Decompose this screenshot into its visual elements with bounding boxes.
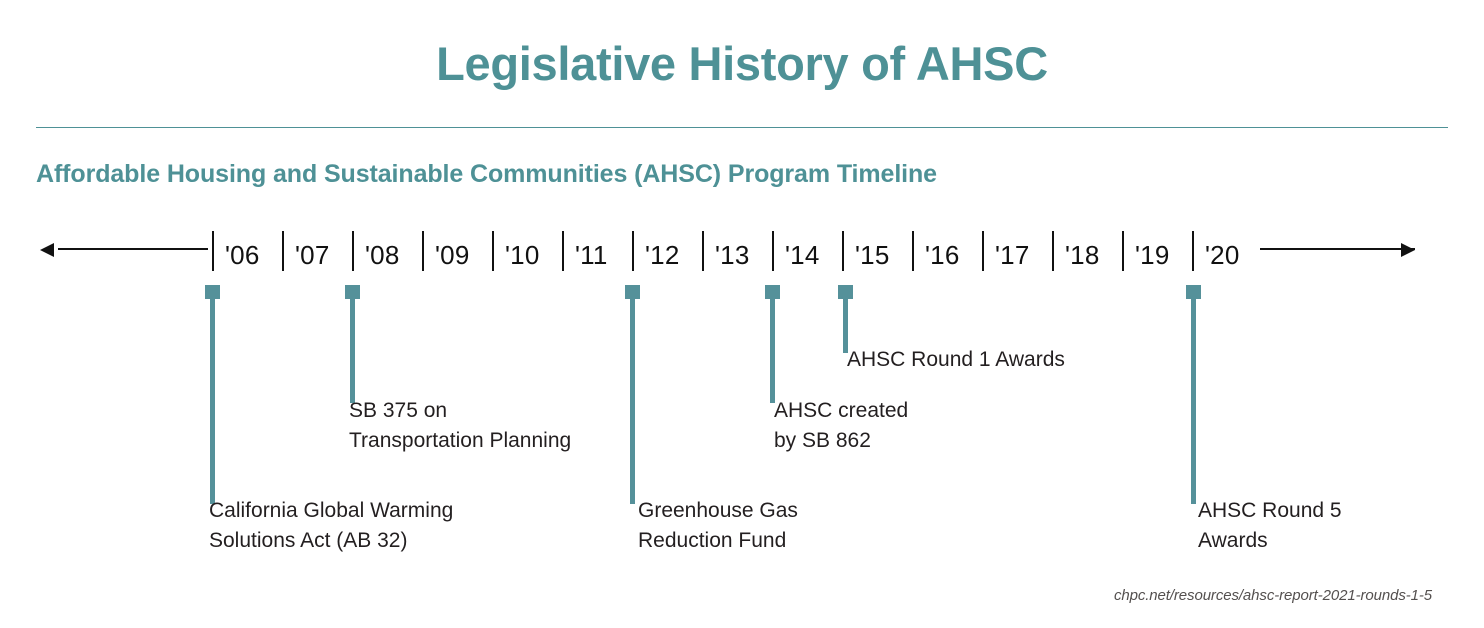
axis-tick — [912, 231, 914, 271]
arrow-right-icon — [1401, 243, 1415, 257]
year-label-19: '19 — [1135, 240, 1169, 271]
subtitle: Affordable Housing and Sustainable Commu… — [36, 160, 937, 189]
marker-cap-icon — [205, 285, 220, 299]
axis-tick — [422, 231, 424, 271]
marker-cap-icon — [765, 285, 780, 299]
year-label-14: '14 — [785, 240, 819, 271]
year-label-20: '20 — [1205, 240, 1239, 271]
axis-tick — [282, 231, 284, 271]
event-label-california-global-warming: California Global Warming Solutions Act … — [209, 496, 453, 556]
axis-tick — [1122, 231, 1124, 271]
year-label-11: '11 — [575, 240, 608, 271]
year-label-13: '13 — [715, 240, 749, 271]
event-marker-14[interactable] — [765, 285, 780, 404]
axis-tick — [352, 231, 354, 271]
marker-stem — [1191, 298, 1196, 504]
event-label-sb-375-on: SB 375 on Transportation Planning — [349, 396, 571, 456]
axis-line-right — [1260, 248, 1415, 250]
arrow-left-icon — [40, 243, 54, 257]
event-label-ahsc-round-1-awards: AHSC Round 1 Awards — [847, 345, 1065, 375]
marker-cap-icon — [345, 285, 360, 299]
event-label-ahsc-round-5: AHSC Round 5 Awards — [1198, 496, 1342, 556]
axis-tick — [982, 231, 984, 271]
year-label-17: '17 — [995, 240, 1029, 271]
slide-canvas: Legislative History of AHSC Affordable H… — [0, 0, 1484, 628]
marker-stem — [770, 298, 775, 403]
axis-tick — [842, 231, 844, 271]
marker-cap-icon — [1186, 285, 1201, 299]
year-label-06: '06 — [225, 240, 259, 271]
marker-cap-icon — [838, 285, 853, 299]
axis-tick — [212, 231, 214, 271]
axis-tick — [632, 231, 634, 271]
year-label-15: '15 — [855, 240, 889, 271]
event-marker-20[interactable] — [1186, 285, 1201, 505]
year-label-08: '08 — [365, 240, 399, 271]
page-title: Legislative History of AHSC — [0, 38, 1484, 91]
axis-tick — [1052, 231, 1054, 271]
event-marker-06[interactable] — [205, 285, 220, 505]
event-marker-12[interactable] — [625, 285, 640, 505]
year-label-07: '07 — [295, 240, 329, 271]
title-divider — [36, 127, 1448, 128]
axis-line-left — [58, 248, 208, 250]
event-label-ahsc-created: AHSC created by SB 862 — [774, 396, 908, 456]
event-label-greenhouse-gas: Greenhouse Gas Reduction Fund — [638, 496, 798, 556]
year-label-12: '12 — [645, 240, 679, 271]
year-label-18: '18 — [1065, 240, 1099, 271]
source-note: chpc.net/resources/ahsc-report-2021-roun… — [1114, 587, 1432, 604]
axis-tick — [562, 231, 564, 271]
year-label-16: '16 — [925, 240, 959, 271]
axis-tick — [772, 231, 774, 271]
year-label-09: '09 — [435, 240, 469, 271]
axis-tick — [492, 231, 494, 271]
event-marker-08[interactable] — [345, 285, 360, 404]
marker-cap-icon — [625, 285, 640, 299]
marker-stem — [210, 298, 215, 504]
axis-tick — [1192, 231, 1194, 271]
marker-stem — [350, 298, 355, 403]
year-label-10: '10 — [505, 240, 539, 271]
axis-tick — [702, 231, 704, 271]
marker-stem — [630, 298, 635, 504]
event-marker-15[interactable] — [838, 285, 853, 354]
